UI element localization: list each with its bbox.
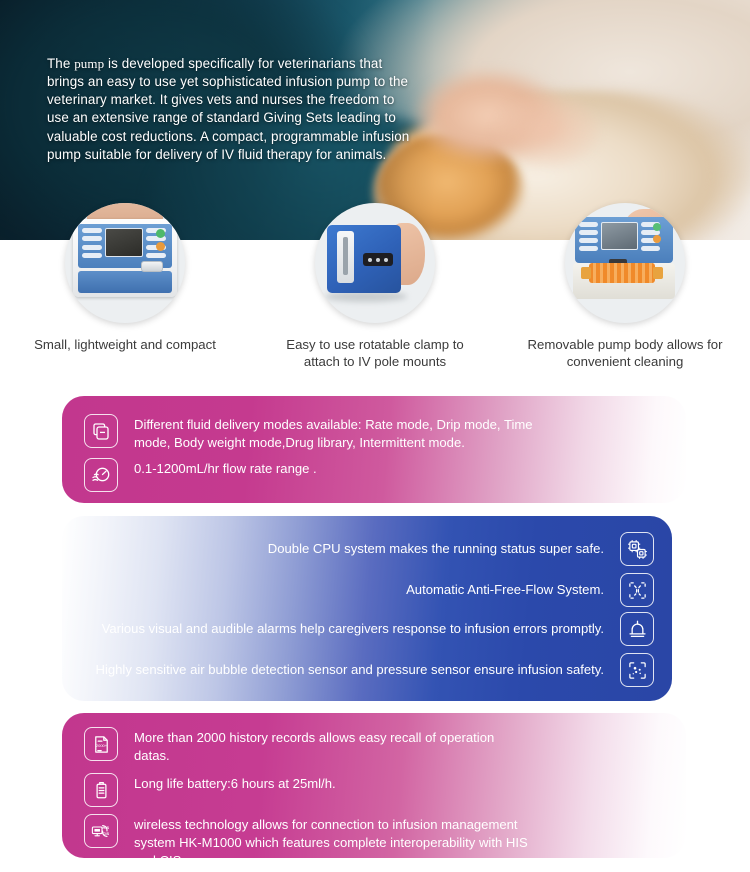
card-row: Highly sensitive air bubble detection se… [86,653,654,687]
dual-cpu-icon [620,532,654,566]
pump-device-photo-icon [65,203,185,323]
alarm-beacon-icon [620,612,654,646]
card-row: 0.1-1200mL/hr flow rate range . [84,458,554,492]
his-label: HIS [103,825,110,830]
product-feature-page: The pump is developed specifically for v… [0,0,750,872]
hero-text-prefix: The [47,56,74,71]
flow-rate-icon [84,458,118,492]
hero-text-body: is developed specifically for veterinari… [47,56,409,162]
removable-pump-body-photo-icon [565,203,685,323]
card-row: Various visual and audible alarms help c… [86,612,654,646]
safety-card: Double CPU system makes the running stat… [62,516,672,701]
card-row-text: Long life battery:6 hours at 25ml/h. [134,773,336,793]
connectivity-card: 2000+ More than 2000 history records all… [62,713,686,858]
bubble-detection-icon [620,653,654,687]
card-row-text: Different fluid delivery modes available… [134,414,554,452]
card-row: Double CPU system makes the running stat… [86,532,654,566]
feature-caption-3: Removable pump body allows for convenien… [520,337,730,371]
card-row-text: Double CPU system makes the running stat… [268,540,604,558]
feature-item-2: Easy to use rotatable clamp to attach to… [250,203,500,378]
card-row: Different fluid delivery modes available… [84,414,554,452]
card-row-text: Various visual and audible alarms help c… [102,620,604,638]
battery-icon [84,773,118,807]
card-row-text: Automatic Anti-Free-Flow System. [406,581,604,599]
card-row: Automatic Anti-Free-Flow System. [86,573,654,607]
card-row-text: wireless technology allows for connectio… [134,814,534,869]
feature-item-1: Small, lightweight and compact [0,203,250,378]
anti-free-flow-icon [620,573,654,607]
history-records-icon: 2000+ [84,727,118,761]
his-cis-network-icon: HIS CIS [84,814,118,848]
cis-label: CIS [103,831,110,836]
card-row: HIS CIS wireless technology allows for c… [84,814,534,869]
rotatable-clamp-photo-icon [315,203,435,323]
card-row-text: 0.1-1200mL/hr flow rate range . [134,458,317,478]
brand-word: pump [74,56,104,71]
card-row-text: Highly sensitive air bubble detection se… [95,661,604,679]
card-row-text: More than 2000 history records allows ea… [134,727,504,765]
history-records-count: 2000+ [95,742,107,747]
feature-caption-1: Small, lightweight and compact [20,337,230,354]
feature-circles: Small, lightweight and compact Easy to u… [0,203,750,378]
delivery-modes-card: Different fluid delivery modes available… [62,396,686,503]
card-row: Long life battery:6 hours at 25ml/h. [84,773,504,807]
feature-caption-2: Easy to use rotatable clamp to attach to… [270,337,480,371]
delivery-modes-icon [84,414,118,448]
card-row: 2000+ More than 2000 history records all… [84,727,504,765]
feature-item-3: Removable pump body allows for convenien… [500,203,750,378]
hero-paragraph: The pump is developed specifically for v… [47,55,411,164]
